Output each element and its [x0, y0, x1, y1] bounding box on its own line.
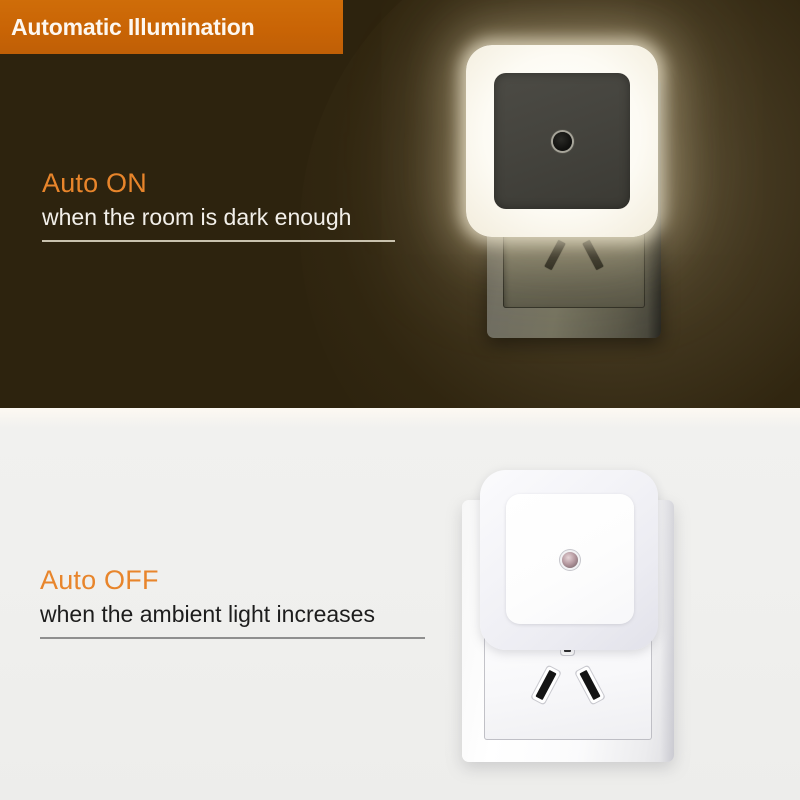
socket-slot-live-icon	[544, 240, 565, 270]
banner-automatic-illumination: Automatic Illumination	[0, 0, 343, 54]
wall-plate-edge-highlight	[660, 500, 674, 762]
socket-slot-neutral-icon	[582, 240, 603, 270]
light-sensor-icon	[562, 552, 578, 568]
socket-slot-live-icon	[535, 670, 556, 700]
caption-auto-on-rule	[42, 240, 395, 242]
banner-label: Automatic Illumination	[11, 14, 255, 41]
night-light-face-dark	[494, 73, 630, 209]
light-sensor-icon	[553, 132, 572, 151]
caption-auto-off-rule	[40, 637, 425, 639]
night-light-device-off	[480, 470, 658, 650]
caption-auto-off-title: Auto OFF	[40, 565, 425, 596]
caption-auto-off-subtitle: when the ambient light increases	[40, 601, 425, 628]
socket-slot-neutral-icon	[579, 670, 600, 700]
caption-auto-on: Auto ON when the room is dark enough	[42, 168, 395, 242]
panel-auto-off: Auto OFF when the ambient light increase…	[0, 408, 800, 800]
caption-auto-on-subtitle: when the room is dark enough	[42, 204, 395, 231]
product-feature-image: Automatic Illumination Auto ON when the …	[0, 0, 800, 800]
caption-auto-off: Auto OFF when the ambient light increase…	[40, 565, 425, 639]
night-light-device-on	[466, 45, 658, 237]
caption-auto-on-title: Auto ON	[42, 168, 395, 199]
night-light-face-white	[506, 494, 634, 624]
panel-auto-on: Automatic Illumination Auto ON when the …	[0, 0, 800, 408]
